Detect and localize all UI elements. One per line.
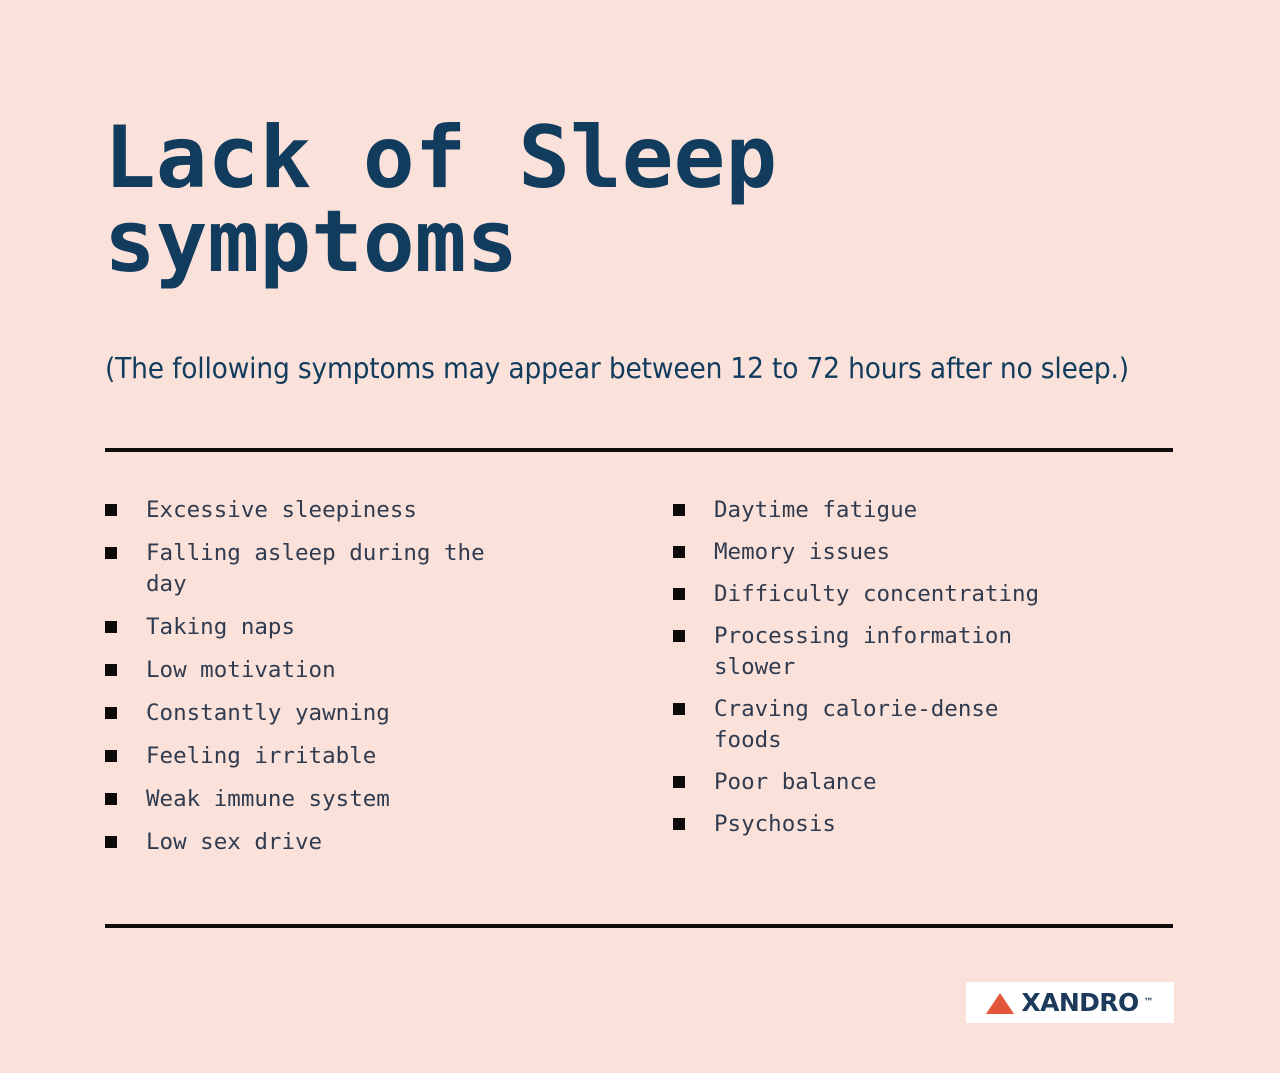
symptoms-column-left: Excessive sleepiness Falling asleep duri… bbox=[105, 495, 640, 870]
list-item: Difficulty concentrating bbox=[673, 579, 1175, 610]
list-item: Constantly yawning bbox=[105, 698, 640, 729]
symptom-label: Low sex drive bbox=[146, 827, 506, 858]
title-block: Lack of Sleep symptoms bbox=[104, 116, 1004, 285]
list-item: Processing information slower bbox=[673, 621, 1175, 683]
symptom-label: Low motivation bbox=[146, 655, 506, 686]
symptom-label: Constantly yawning bbox=[146, 698, 506, 729]
logo-inner: XANDRO ™ bbox=[986, 990, 1153, 1015]
square-bullet-icon bbox=[673, 818, 685, 830]
square-bullet-icon bbox=[673, 546, 685, 558]
symptom-label: Excessive sleepiness bbox=[146, 495, 506, 526]
square-bullet-icon bbox=[105, 547, 117, 559]
square-bullet-icon bbox=[673, 703, 685, 715]
symptom-label: Falling asleep during the day bbox=[146, 538, 506, 600]
list-item: Excessive sleepiness bbox=[105, 495, 640, 526]
symptom-label: Taking naps bbox=[146, 612, 506, 643]
list-item: Daytime fatigue bbox=[673, 495, 1175, 526]
page-subtitle: (The following symptoms may appear betwe… bbox=[105, 352, 1129, 386]
list-item: Low motivation bbox=[105, 655, 640, 686]
symptom-label: Difficulty concentrating bbox=[714, 579, 1044, 610]
square-bullet-icon bbox=[105, 750, 117, 762]
brand-name: XANDRO bbox=[1021, 990, 1138, 1015]
symptom-list-left: Excessive sleepiness Falling asleep duri… bbox=[105, 495, 640, 858]
symptom-label: Memory issues bbox=[714, 537, 1044, 568]
symptom-label: Psychosis bbox=[714, 809, 1044, 840]
list-item: Falling asleep during the day bbox=[105, 538, 640, 600]
square-bullet-icon bbox=[673, 776, 685, 788]
trademark-icon: ™ bbox=[1144, 997, 1154, 1008]
poster-canvas: Lack of Sleep symptoms (The following sy… bbox=[0, 0, 1280, 1073]
list-item: Feeling irritable bbox=[105, 741, 640, 772]
symptoms-section: Excessive sleepiness Falling asleep duri… bbox=[105, 495, 1175, 870]
symptom-label: Processing information slower bbox=[714, 621, 1044, 683]
square-bullet-icon bbox=[105, 793, 117, 805]
list-item: Craving calorie-dense foods bbox=[673, 694, 1175, 756]
square-bullet-icon bbox=[105, 621, 117, 633]
list-item: Psychosis bbox=[673, 809, 1175, 840]
symptoms-column-right: Daytime fatigue Memory issues Difficulty… bbox=[640, 495, 1175, 870]
square-bullet-icon bbox=[673, 630, 685, 642]
symptom-label: Daytime fatigue bbox=[714, 495, 1044, 526]
symptom-label: Craving calorie-dense foods bbox=[714, 694, 1044, 756]
square-bullet-icon bbox=[105, 707, 117, 719]
list-item: Low sex drive bbox=[105, 827, 640, 858]
divider-top bbox=[105, 448, 1173, 452]
list-item: Memory issues bbox=[673, 537, 1175, 568]
square-bullet-icon bbox=[105, 836, 117, 848]
page-title: Lack of Sleep symptoms bbox=[104, 116, 1004, 285]
symptom-label: Poor balance bbox=[714, 767, 1044, 798]
square-bullet-icon bbox=[673, 588, 685, 600]
square-bullet-icon bbox=[105, 504, 117, 516]
square-bullet-icon bbox=[673, 504, 685, 516]
symptom-label: Weak immune system bbox=[146, 784, 506, 815]
square-bullet-icon bbox=[105, 664, 117, 676]
divider-bottom bbox=[105, 924, 1173, 928]
symptom-label: Feeling irritable bbox=[146, 741, 506, 772]
brand-logo: XANDRO ™ bbox=[966, 982, 1174, 1023]
triangle-icon bbox=[986, 993, 1014, 1014]
list-item: Poor balance bbox=[673, 767, 1175, 798]
list-item: Weak immune system bbox=[105, 784, 640, 815]
list-item: Taking naps bbox=[105, 612, 640, 643]
symptom-list-right: Daytime fatigue Memory issues Difficulty… bbox=[673, 495, 1175, 840]
